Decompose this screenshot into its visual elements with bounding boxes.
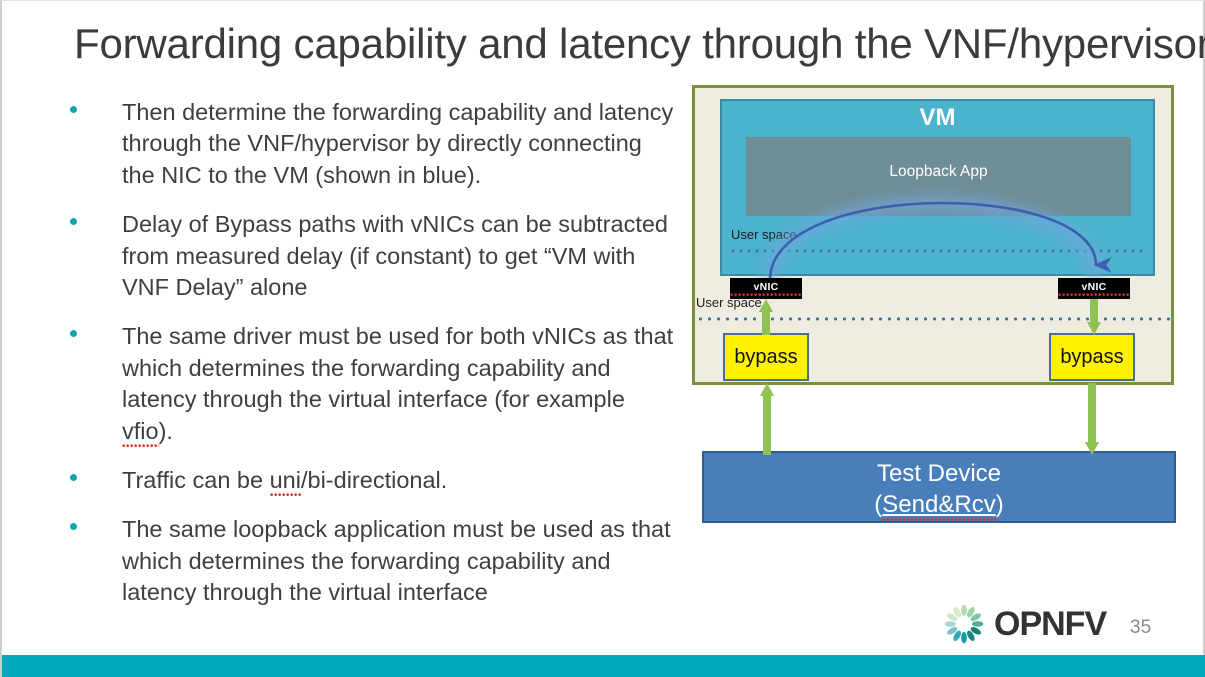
- spellcheck-word: Send&Rcv: [882, 491, 995, 521]
- bullet-text-part: Traffic can be: [122, 467, 270, 493]
- bullet-text-part: The same driver must be used for both vN…: [122, 323, 673, 412]
- test-device-box: Test Device (Send&Rcv): [702, 451, 1176, 523]
- bullet-text: Then determine the forwarding capability…: [122, 97, 676, 191]
- vnic-label: vNIC: [1058, 281, 1130, 296]
- arrow-vnic-to-bypass-right-icon: [1087, 299, 1101, 335]
- footer-accent-bar: [2, 655, 1205, 677]
- bullet-text-part: ).: [159, 418, 173, 444]
- spellcheck-word: uni: [270, 467, 301, 496]
- page-title: Forwarding capability and latency throug…: [74, 15, 1184, 75]
- architecture-diagram: VM Loopback App User space vNIC vNIC Use…: [692, 85, 1174, 385]
- bullet-marker-icon: [70, 474, 77, 481]
- opnfv-logo-icon: [940, 602, 988, 646]
- spellcheck-word: vfio: [122, 418, 159, 447]
- arrow-test-device-to-bypass-left-icon: [760, 383, 774, 455]
- paren-close: ): [996, 491, 1004, 518]
- bullet-marker-icon: [70, 523, 77, 530]
- test-device-label: Test Device: [704, 460, 1174, 488]
- page-number: 35: [1130, 617, 1151, 639]
- bullet-text: The same loopback application must be us…: [122, 514, 676, 608]
- bullet-text-part: /bi-directional.: [301, 467, 447, 493]
- list-item: Traffic can be uni/bi-directional.: [68, 465, 676, 496]
- bullet-text: Traffic can be uni/bi-directional.: [122, 465, 676, 496]
- test-device-sublabel: (Send&Rcv): [704, 491, 1174, 519]
- bullet-text: Delay of Bypass paths with vNICs can be …: [122, 209, 676, 303]
- bullet-text: The same driver must be used for both vN…: [122, 321, 676, 447]
- list-item: The same driver must be used for both vN…: [68, 321, 676, 447]
- bullet-marker-icon: [70, 218, 77, 225]
- list-item: The same loopback application must be us…: [68, 514, 676, 608]
- vnic-box-left: vNIC: [730, 278, 802, 299]
- vnic-box-right: vNIC: [1058, 278, 1130, 299]
- slide-canvas: Forwarding capability and latency throug…: [0, 0, 1205, 677]
- bullet-list: Then determine the forwarding capability…: [68, 97, 676, 627]
- loopback-path-arrow-icon: [692, 85, 1174, 385]
- bullet-marker-icon: [70, 106, 77, 113]
- list-item: Then determine the forwarding capability…: [68, 97, 676, 191]
- bullet-marker-icon: [70, 330, 77, 337]
- list-item: Delay of Bypass paths with vNICs can be …: [68, 209, 676, 303]
- arrow-bypass-to-vnic-left-icon: [759, 299, 773, 335]
- arrow-bypass-to-test-device-right-icon: [1085, 383, 1099, 455]
- vnic-label: vNIC: [730, 281, 802, 296]
- brand-name: OPNFV: [994, 605, 1106, 644]
